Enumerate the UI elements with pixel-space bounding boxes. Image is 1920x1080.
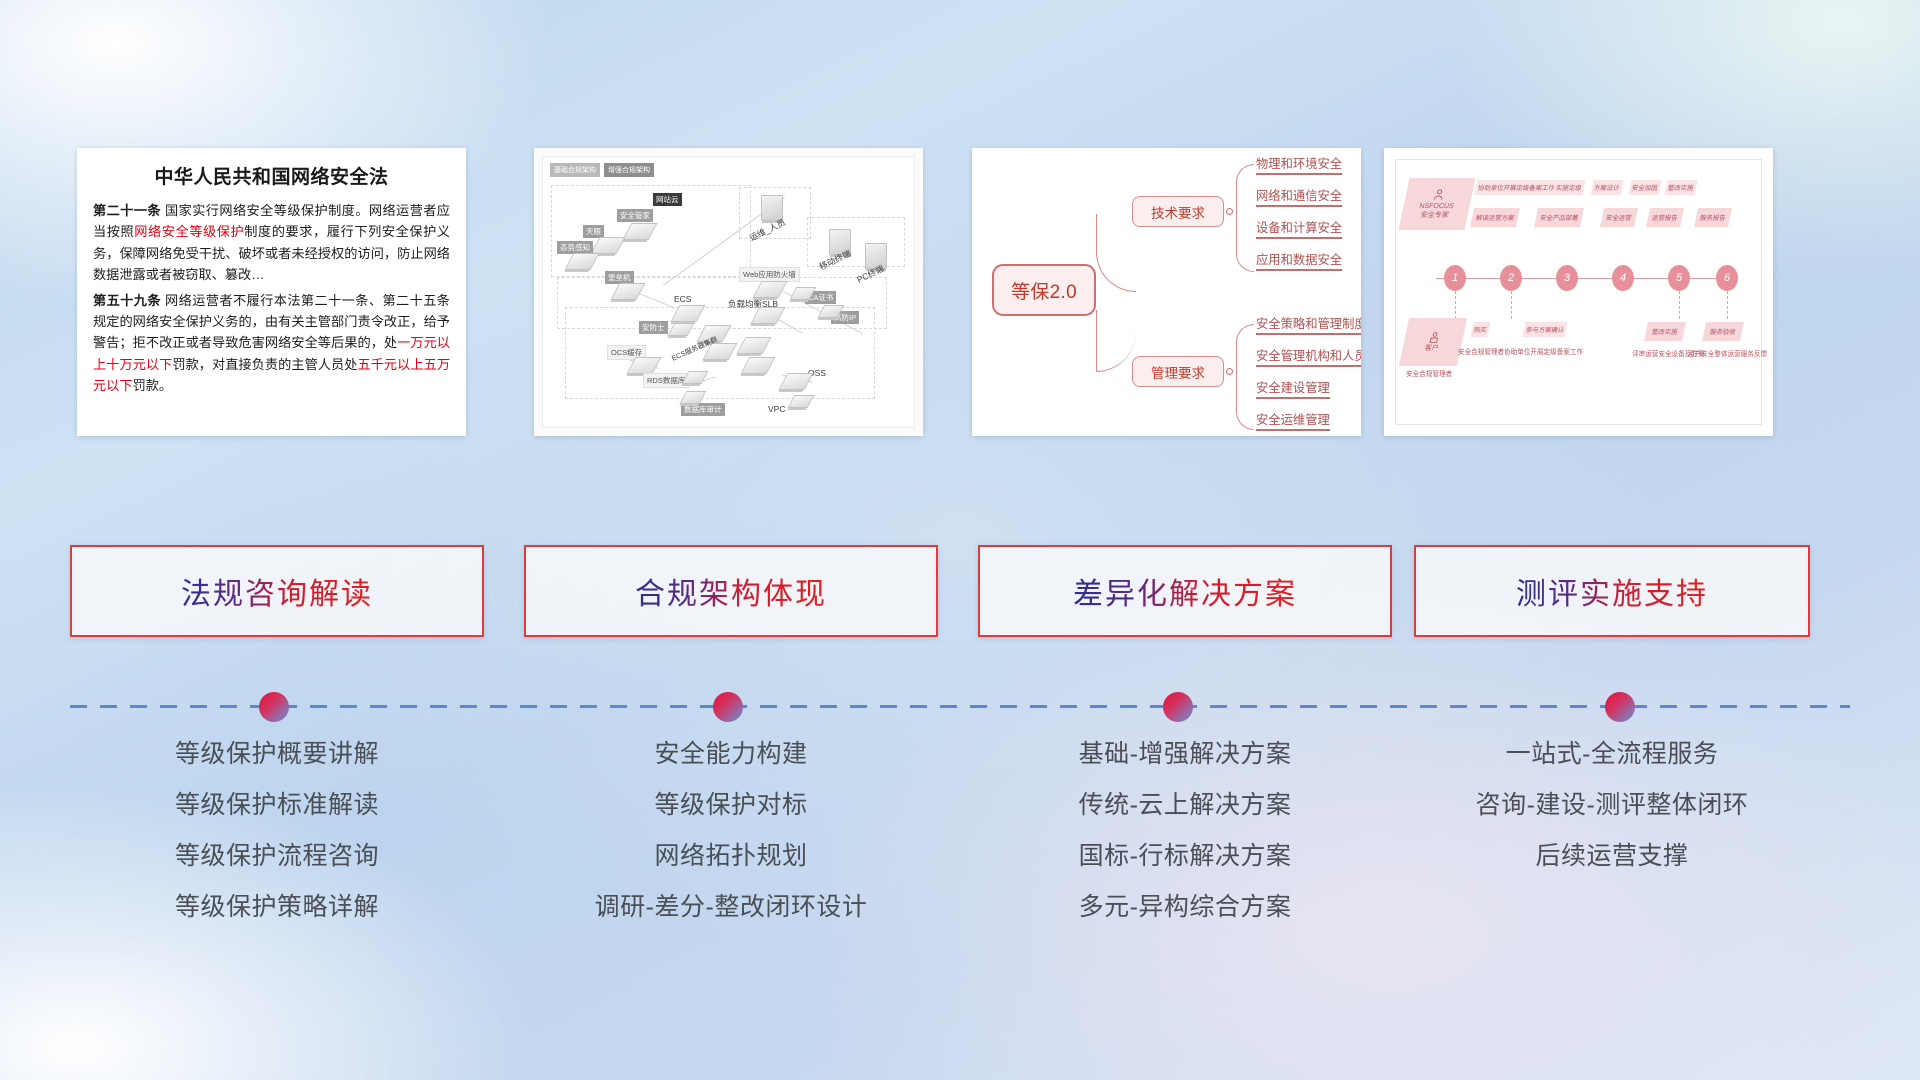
timeline bbox=[0, 692, 1920, 722]
flow-ribbon-item-3: 安全运营 bbox=[1600, 208, 1638, 227]
slide-canvas: 中华人民共和国网络安全法 第二十一条 国家实行网络安全等级保护制度。网络运营者应… bbox=[0, 0, 1920, 1080]
mindmap-collapse-dot-management[interactable] bbox=[1226, 368, 1233, 375]
list-item: 基础-增强解决方案 bbox=[978, 742, 1392, 767]
law-article-number-2: 第五十九条 bbox=[93, 293, 161, 308]
timeline-dot-1[interactable] bbox=[259, 692, 289, 722]
flow-footer-item-2: 参与方案确认 bbox=[1522, 322, 1568, 337]
flow-footer-sub-1: 安全合规管理者 bbox=[1458, 346, 1504, 356]
mindmap-connector-tech bbox=[1096, 214, 1136, 292]
arch-tab-basic[interactable]: 基础合规架构 bbox=[550, 163, 600, 177]
list-item: 等级保护概要讲解 bbox=[70, 742, 484, 767]
mindmap-leaf-mgmt-4: 安全运维管理 bbox=[1256, 410, 1330, 431]
flow-footer-item-4: 服务验收 bbox=[1702, 322, 1744, 341]
service-flow-diagram: NSFOCUS 安全专家 协助单位开展定级备案工作 实施定级 方案设计 安全加固… bbox=[1384, 148, 1773, 436]
list-item: 等级保护对标 bbox=[524, 793, 938, 818]
person-star-icon bbox=[1431, 188, 1448, 202]
flow-step-1: 1 bbox=[1444, 265, 1466, 291]
list-regulation-consulting: 等级保护概要讲解 等级保护标准解读 等级保护流程咨询 等级保护策略详解 bbox=[70, 742, 484, 946]
mindmap-branch-management: 管理要求 bbox=[1132, 356, 1224, 387]
arch-node-label-waf: Web应用防火墙 bbox=[739, 267, 800, 282]
flow-header-chip-1: 协助单位开展定级备案工作 bbox=[1474, 180, 1558, 195]
mindmap: 等保2.0 技术要求 物理和环境安全 网络和通信安全 设备和计算安全 应用和数据… bbox=[972, 148, 1361, 436]
flow-ribbon-item-1: 解读运营方案 bbox=[1470, 208, 1520, 227]
law-rest-2: 罚款。 bbox=[133, 378, 173, 393]
law-paragraph-1: 第二十一条 国家实行网络安全等级保护制度。网络运营者应当按照网络安全等级保护制度… bbox=[93, 200, 450, 286]
mindmap-leaf-mgmt-3: 安全建设管理 bbox=[1256, 378, 1330, 399]
heading-label-4: 测评实施支持 bbox=[1516, 569, 1708, 613]
heading-regulation-consulting[interactable]: 法规咨询解读 bbox=[70, 545, 484, 637]
heading-row: 法规咨询解读 合规架构体现 差异化解决方案 测评实施支持 bbox=[0, 545, 1920, 645]
list-item: 咨询-建设-测评整体闭环 bbox=[1414, 793, 1810, 818]
flow-footer-sub-4: 用户安全整体运营服务反馈 bbox=[1688, 348, 1767, 358]
flow-dash-1 bbox=[1455, 291, 1456, 319]
flow-brand-ribbon: NSFOCUS 安全专家 bbox=[1398, 178, 1475, 230]
arch-node-label-ecs: ECS bbox=[671, 293, 694, 305]
flow-steps-line bbox=[1436, 278, 1736, 279]
flow-step-4: 4 bbox=[1612, 265, 1634, 291]
mindmap-fan-tech-up bbox=[1236, 164, 1254, 212]
arch-tab-enhanced[interactable]: 增强合规架构 bbox=[604, 163, 654, 177]
heading-label-1: 法规咨询解读 bbox=[181, 569, 373, 613]
mindmap-leaf-tech-1: 物理和环境安全 bbox=[1256, 154, 1342, 175]
law-mid-2: 罚款，对直接负责的主管人员处 bbox=[172, 357, 357, 372]
list-compliance-architecture: 安全能力构建 等级保护对标 网络拓扑规划 调研-差分-整改闭环设计 bbox=[524, 742, 938, 946]
mindmap-fan-tech-down bbox=[1236, 212, 1254, 272]
mindmap-leaf-tech-2: 网络和通信安全 bbox=[1256, 186, 1342, 207]
flow-step-3: 3 bbox=[1556, 265, 1578, 291]
flow-ribbon-item-2: 安全产品部署 bbox=[1534, 208, 1584, 227]
flow-ribbon-item-5: 服务报告 bbox=[1694, 208, 1732, 227]
list-item: 等级保护流程咨询 bbox=[70, 844, 484, 869]
flow-ribbon-item-4: 运营报告 bbox=[1646, 208, 1684, 227]
architecture-diagram: 基础合规架构 增强合规架构 bbox=[534, 148, 923, 436]
flow-brand-sub: 安全专家 bbox=[1420, 211, 1450, 220]
mindmap-fan-mgmt-up bbox=[1236, 324, 1254, 372]
flow-footer-sub-0: 安全合规管理者 bbox=[1406, 368, 1452, 378]
flow-step-2: 2 bbox=[1500, 265, 1522, 291]
law-highlight-1: 网络安全等级保护 bbox=[134, 224, 244, 239]
law-document: 中华人民共和国网络安全法 第二十一条 国家实行网络安全等级保护制度。网络运营者应… bbox=[77, 148, 466, 436]
heading-compliance-architecture[interactable]: 合规架构体现 bbox=[524, 545, 938, 637]
card-service-flow[interactable]: NSFOCUS 安全专家 协助单位开展定级备案工作 实施定级 方案设计 安全加固… bbox=[1384, 148, 1773, 436]
preview-card-row: 中华人民共和国网络安全法 第二十一条 国家实行网络安全等级保护制度。网络运营者应… bbox=[0, 148, 1920, 438]
card-cybersecurity-law[interactable]: 中华人民共和国网络安全法 第二十一条 国家实行网络安全等级保护制度。网络运营者应… bbox=[77, 148, 466, 436]
card-cloud-architecture[interactable]: 基础合规架构 增强合规架构 bbox=[534, 148, 923, 436]
heading-label-3: 差异化解决方案 bbox=[1073, 569, 1297, 613]
heading-differentiated-solution[interactable]: 差异化解决方案 bbox=[978, 545, 1392, 637]
list-evaluation-support: 一站式-全流程服务 咨询-建设-测评整体闭环 后续运营支撑 bbox=[1414, 742, 1810, 895]
architecture-tabs: 基础合规架构 增强合规架构 bbox=[550, 163, 654, 177]
mindmap-leaf-tech-4: 应用和数据安全 bbox=[1256, 250, 1342, 271]
detail-list-row: 等级保护概要讲解 等级保护标准解读 等级保护流程咨询 等级保护策略详解 安全能力… bbox=[0, 742, 1920, 972]
flow-dash-4 bbox=[1727, 291, 1728, 319]
list-item: 等级保护标准解读 bbox=[70, 793, 484, 818]
law-article-number-1: 第二十一条 bbox=[93, 203, 161, 218]
card-dengbao-mindmap[interactable]: 等保2.0 技术要求 物理和环境安全 网络和通信安全 设备和计算安全 应用和数据… bbox=[972, 148, 1361, 436]
list-item: 调研-差分-整改闭环设计 bbox=[524, 895, 938, 920]
flow-footer-item-1: 购买 bbox=[1470, 322, 1490, 337]
arch-node-label-website-cloud: 网站云 bbox=[653, 193, 682, 206]
list-item: 一站式-全流程服务 bbox=[1414, 742, 1810, 767]
mindmap-branch-technical: 技术要求 bbox=[1132, 196, 1224, 227]
timeline-dot-4[interactable] bbox=[1605, 692, 1635, 722]
flow-dash-3 bbox=[1679, 291, 1680, 319]
flow-step-5: 5 bbox=[1668, 265, 1690, 291]
list-item: 网络拓扑规划 bbox=[524, 844, 938, 869]
timeline-dot-3[interactable] bbox=[1163, 692, 1193, 722]
mindmap-leaf-mgmt-2: 安全管理机构和人员 bbox=[1256, 346, 1361, 367]
flow-header-chip-5: 整改实施 bbox=[1664, 180, 1697, 195]
person-check-icon bbox=[1426, 331, 1442, 344]
flow-footer-brand-label: 客户 bbox=[1424, 344, 1440, 353]
list-item: 多元-异构综合方案 bbox=[978, 895, 1392, 920]
flow-footer-brand: 客户 bbox=[1399, 318, 1467, 366]
flow-footer-item-3: 整改实施 bbox=[1644, 322, 1686, 341]
flow-header-chip-3: 方案设计 bbox=[1590, 180, 1623, 195]
flow-step-6: 6 bbox=[1716, 265, 1738, 291]
mindmap-root: 等保2.0 bbox=[992, 264, 1096, 316]
list-item: 国标-行标解决方案 bbox=[978, 844, 1392, 869]
mindmap-connector-mgmt bbox=[1096, 310, 1136, 372]
mindmap-collapse-dot-technical[interactable] bbox=[1226, 208, 1233, 215]
mindmap-leaf-tech-3: 设备和计算安全 bbox=[1256, 218, 1342, 239]
timeline-dashed-line bbox=[70, 705, 1850, 708]
law-paragraph-2: 第五十九条 网络运营者不履行本法第二十一条、第二十五条规定的网络安全保护义务的，… bbox=[93, 290, 450, 397]
flow-dash-2 bbox=[1511, 291, 1512, 319]
heading-label-2: 合规架构体现 bbox=[635, 569, 827, 613]
flow-footer-sub-2: 协助单位开展定级备案工作 bbox=[1504, 346, 1583, 356]
timeline-dot-2[interactable] bbox=[713, 692, 743, 722]
heading-evaluation-support[interactable]: 测评实施支持 bbox=[1414, 545, 1810, 637]
flow-header-chip-2: 实施定级 bbox=[1552, 180, 1585, 195]
mindmap-fan-mgmt-down bbox=[1236, 372, 1254, 430]
mindmap-leaf-mgmt-1: 安全策略和管理制度 bbox=[1256, 314, 1361, 335]
arch-node-label-security-butler: 安全管家 bbox=[617, 209, 653, 222]
arch-node-label-db-audit: 数据库审计 bbox=[681, 403, 725, 416]
list-item: 安全能力构建 bbox=[524, 742, 938, 767]
arch-node-label-vpc: VPC bbox=[765, 403, 788, 415]
list-item: 等级保护策略详解 bbox=[70, 895, 484, 920]
list-item: 传统-云上解决方案 bbox=[978, 793, 1392, 818]
arch-node-label-anfangshi: 安防士 bbox=[639, 321, 668, 334]
law-title: 中华人民共和国网络安全法 bbox=[93, 162, 450, 189]
list-item: 后续运营支撑 bbox=[1414, 844, 1810, 869]
flow-brand-name: NSFOCUS bbox=[1418, 202, 1454, 211]
flow-header-chip-4: 安全加固 bbox=[1628, 180, 1661, 195]
list-differentiated-solution: 基础-增强解决方案 传统-云上解决方案 国标-行标解决方案 多元-异构综合方案 bbox=[978, 742, 1392, 946]
